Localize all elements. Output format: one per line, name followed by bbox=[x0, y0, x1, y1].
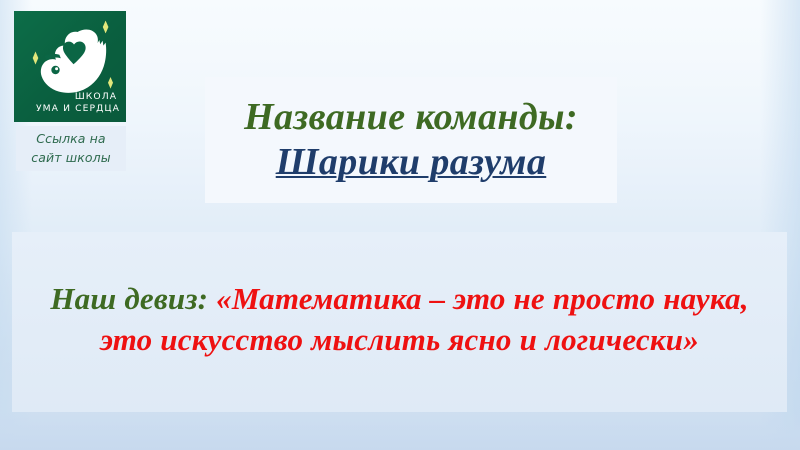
motto-lead-label: Наш девиз: bbox=[50, 281, 216, 316]
school-logo-square[interactable]: ШКОЛА УМА И СЕРДЦА bbox=[14, 11, 126, 122]
dove-eye-highlight bbox=[55, 67, 58, 70]
team-title-panel: Название команды: Шарики разума bbox=[205, 77, 617, 203]
team-title-label: Название команды: bbox=[244, 96, 578, 139]
team-name: Шарики разума bbox=[276, 141, 547, 184]
team-motto-panel: Наш девиз: «Математика – это не просто н… bbox=[12, 232, 787, 412]
school-site-link-label: Ссылка на сайт школы bbox=[31, 130, 110, 166]
school-site-link-box[interactable]: Ссылка на сайт школы bbox=[16, 126, 126, 171]
logo-wordmark-line-2: УМА И СЕРДЦА bbox=[36, 103, 120, 114]
school-logo-block[interactable]: ШКОЛА УМА И СЕРДЦА Ссылка на сайт школы bbox=[14, 11, 126, 122]
team-motto-text: Наш девиз: «Математика – это не просто н… bbox=[30, 278, 769, 360]
bottom-gradient-wash bbox=[0, 412, 800, 450]
school-logo-mark: ШКОЛА УМА И СЕРДЦА bbox=[14, 11, 126, 122]
logo-wordmark-line-1: ШКОЛА bbox=[75, 91, 117, 102]
presentation-slide: ШКОЛА УМА И СЕРДЦА Ссылка на сайт школы … bbox=[0, 0, 800, 450]
dove-eye bbox=[51, 66, 59, 74]
